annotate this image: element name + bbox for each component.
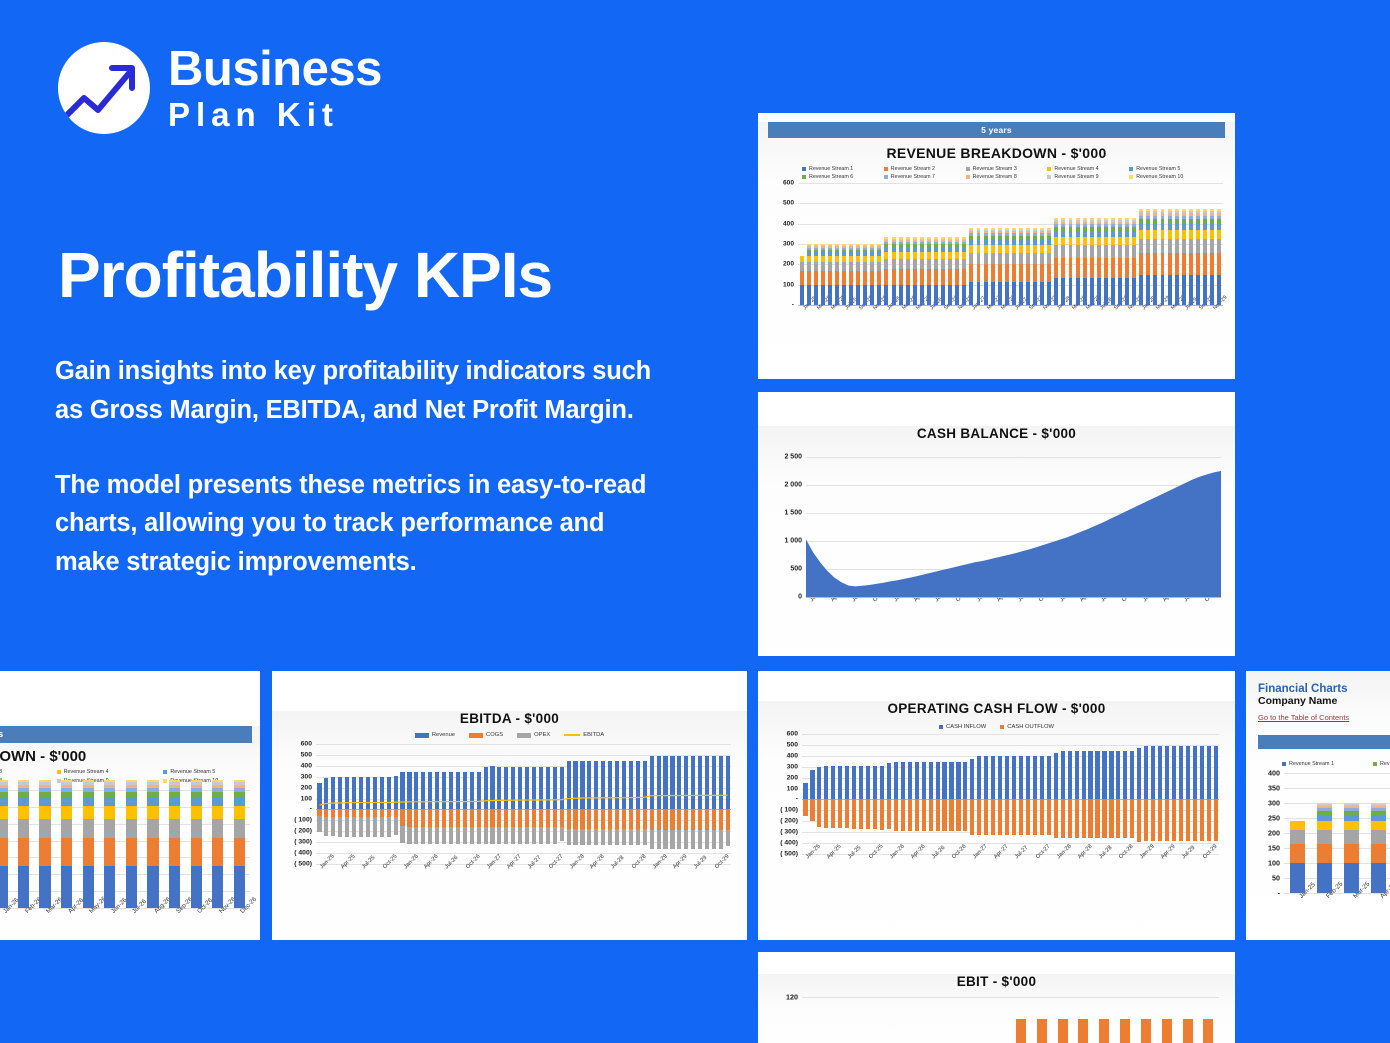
stacked-bar[interactable]	[877, 244, 881, 305]
legend-item[interactable]: Revenue Stream 3	[966, 166, 1048, 172]
bar[interactable]	[991, 756, 995, 799]
bar-slot	[990, 997, 1011, 1043]
bar[interactable]	[831, 766, 835, 799]
bar-segment	[126, 797, 137, 806]
bar[interactable]	[1095, 799, 1099, 838]
bar[interactable]	[894, 762, 898, 800]
stacked-bar[interactable]	[835, 244, 839, 305]
bar[interactable]	[1130, 751, 1134, 800]
bar[interactable]	[1183, 1019, 1193, 1043]
stacked-bar[interactable]	[927, 237, 931, 305]
bar[interactable]	[1047, 756, 1051, 799]
bar[interactable]	[977, 799, 981, 835]
legend-item[interactable]: OPEX	[517, 732, 550, 738]
legend-item[interactable]: Revenue Stream 1	[802, 166, 884, 172]
bar[interactable]	[887, 799, 891, 829]
bar[interactable]	[1214, 746, 1218, 800]
bar[interactable]	[1040, 799, 1044, 835]
bar[interactable]	[1005, 799, 1009, 835]
stacked-bar[interactable]	[984, 228, 988, 305]
bar[interactable]	[1151, 746, 1155, 800]
legend-item[interactable]: Revenue Stream 10	[1129, 174, 1211, 180]
bar-segment	[1146, 223, 1150, 230]
bar[interactable]	[824, 799, 828, 828]
panel-financial-charts[interactable]: Financial Charts Company Name Go to the …	[1246, 671, 1390, 940]
bar[interactable]	[1193, 746, 1197, 800]
bar[interactable]	[936, 799, 940, 831]
bar-slot	[1095, 183, 1102, 305]
bar-segment	[1061, 237, 1065, 246]
bar[interactable]	[1109, 751, 1113, 800]
bar[interactable]	[949, 799, 953, 831]
bar-segment	[1019, 264, 1023, 281]
panel-ebit[interactable]: EBIT - $'000 12010080	[758, 952, 1235, 1043]
stacked-bar[interactable]	[1083, 218, 1087, 305]
bar-segment	[1125, 237, 1129, 246]
bar-segment	[1083, 245, 1087, 258]
bar[interactable]	[1123, 799, 1127, 838]
bar[interactable]	[1165, 746, 1169, 800]
bar[interactable]	[817, 799, 821, 826]
stacked-bar[interactable]	[169, 780, 180, 908]
stacked-bar[interactable]	[212, 780, 223, 908]
legend-item[interactable]: Revenue Stream 1	[1282, 761, 1351, 767]
bar[interactable]	[991, 799, 995, 835]
bar[interactable]	[838, 766, 842, 799]
stacked-bar[interactable]	[0, 780, 8, 908]
bar-segment	[934, 252, 938, 259]
bar[interactable]	[1040, 756, 1044, 799]
y-axis-tick-label: ( 500)	[780, 851, 802, 858]
y-axis-tick-label: 500	[783, 200, 798, 207]
legend-swatch	[966, 175, 970, 179]
bar[interactable]	[942, 799, 946, 831]
bar-segment	[913, 269, 917, 284]
bar[interactable]	[1088, 751, 1092, 800]
bar[interactable]	[1012, 756, 1016, 799]
bar[interactable]	[1162, 1019, 1172, 1043]
bar[interactable]	[1151, 799, 1155, 841]
stacked-bar[interactable]	[39, 780, 50, 908]
bar[interactable]	[956, 799, 960, 831]
bar[interactable]	[1116, 751, 1120, 800]
bar[interactable]	[1037, 1019, 1047, 1043]
bar[interactable]	[824, 766, 828, 799]
panel-cash-balance[interactable]: CASH BALANCE - $'000 2 5002 0001 5001 00…	[758, 392, 1235, 656]
bar[interactable]	[1200, 746, 1204, 800]
stacked-bar[interactable]	[821, 244, 825, 305]
stacked-bar[interactable]	[1217, 209, 1221, 305]
stacked-bar[interactable]	[1196, 209, 1200, 305]
bar-slot	[1129, 734, 1136, 854]
bar[interactable]	[1012, 799, 1016, 835]
stacked-bar[interactable]	[18, 780, 29, 908]
bar[interactable]	[1207, 799, 1211, 841]
stacked-bar[interactable]	[1076, 218, 1080, 305]
bar[interactable]	[1179, 799, 1183, 841]
stacked-bar[interactable]	[1210, 209, 1214, 305]
y-axis-tick-label: ( 200)	[294, 828, 316, 835]
stacked-bar[interactable]	[1097, 218, 1101, 305]
line-series	[316, 744, 731, 864]
bar-segment	[1005, 253, 1009, 265]
bar[interactable]	[949, 762, 953, 800]
stacked-bar[interactable]	[1371, 803, 1386, 893]
stacked-bar[interactable]	[1005, 228, 1009, 305]
bar[interactable]	[998, 756, 1002, 799]
bar-slot	[837, 734, 844, 854]
stacked-bar[interactable]	[1182, 209, 1186, 305]
bar[interactable]	[984, 799, 988, 835]
legend-label: Revenue Stream 7	[891, 174, 935, 180]
stacked-bar[interactable]	[991, 228, 995, 305]
bar[interactable]	[866, 799, 870, 828]
bar[interactable]	[936, 762, 940, 800]
bar-segment	[39, 819, 50, 838]
x-axis-labels: Jan-25Mar-25May-25Jul-25Sep-25Nov-25Jan-…	[798, 305, 1223, 349]
ribbon-5-years[interactable]: 5 years	[768, 122, 1225, 138]
bar-segment	[104, 806, 115, 819]
bar[interactable]	[956, 762, 960, 800]
stacked-bar[interactable]	[906, 237, 910, 305]
bar[interactable]	[838, 799, 842, 828]
bar[interactable]	[1172, 746, 1176, 800]
stacked-bar[interactable]	[61, 780, 72, 908]
bar-segment	[934, 259, 938, 270]
bar-slot	[1187, 183, 1194, 305]
bar[interactable]	[831, 799, 835, 828]
stacked-bar[interactable]	[962, 237, 966, 305]
legend-item[interactable]: Revenue Stream 8	[966, 174, 1048, 180]
bar-slot	[13, 790, 35, 908]
bar[interactable]	[1207, 746, 1211, 800]
stacked-bar[interactable]	[147, 780, 158, 908]
bar[interactable]	[1165, 799, 1169, 841]
bar[interactable]	[1099, 1019, 1109, 1043]
stacked-bar[interactable]	[948, 237, 952, 305]
stacked-bar[interactable]	[1040, 228, 1044, 305]
bar-segment	[1069, 245, 1073, 258]
stacked-bar[interactable]	[1111, 218, 1115, 305]
bar-segment	[234, 797, 245, 806]
legend-item[interactable]: Revenue Stream 3	[0, 769, 39, 775]
stacked-bar[interactable]	[800, 256, 804, 305]
stacked-bar[interactable]	[1026, 228, 1030, 305]
legend-item[interactable]: Revenue Stream 6	[1373, 761, 1390, 767]
ribbon-placeholder[interactable]	[1258, 735, 1390, 749]
plot-ebitda: 600500400300200100-( 100)( 200)( 300)( 4…	[316, 744, 731, 864]
bar-segment	[1076, 258, 1080, 277]
bar[interactable]	[873, 766, 877, 799]
legend-item[interactable]: Revenue Stream 4	[57, 769, 146, 775]
bar[interactable]	[1120, 1019, 1130, 1043]
stacked-bar[interactable]	[1012, 228, 1016, 305]
y-axis-tick-label: ( 100)	[294, 817, 316, 824]
stacked-bar[interactable]	[1069, 218, 1073, 305]
bar[interactable]	[852, 799, 856, 828]
stacked-bar[interactable]	[807, 244, 811, 305]
bar[interactable]	[1130, 799, 1134, 838]
bar-segment	[991, 253, 995, 265]
bar[interactable]	[922, 799, 926, 831]
stacked-bar[interactable]	[842, 244, 846, 305]
bar[interactable]	[1033, 756, 1037, 799]
bar[interactable]	[1016, 1019, 1026, 1043]
bar[interactable]	[1172, 799, 1176, 841]
legend-item[interactable]: Revenue Stream 5	[163, 769, 252, 775]
bar[interactable]	[1061, 799, 1065, 837]
legend-item[interactable]: Revenue Stream 2	[884, 166, 966, 172]
bar[interactable]	[1078, 1019, 1088, 1043]
bar-segment	[1196, 253, 1200, 274]
bar[interactable]	[1144, 799, 1148, 841]
bar[interactable]	[1137, 748, 1141, 800]
legend-item[interactable]: Revenue Stream 4	[1047, 166, 1129, 172]
legend-item[interactable]: Revenue	[415, 732, 455, 738]
stacked-bar[interactable]	[1175, 209, 1179, 305]
stacked-bar[interactable]	[913, 237, 917, 305]
stacked-bar[interactable]	[884, 237, 888, 305]
stacked-bar[interactable]	[934, 237, 938, 305]
stacked-bar[interactable]	[1047, 228, 1051, 305]
bar[interactable]	[852, 766, 856, 799]
bar-segment	[1182, 223, 1186, 230]
bar[interactable]	[1214, 799, 1218, 841]
stacked-bar[interactable]	[955, 237, 959, 305]
bar-segment	[977, 253, 981, 265]
bar[interactable]	[1179, 746, 1183, 800]
bar[interactable]	[942, 762, 946, 800]
bar[interactable]	[1203, 1019, 1213, 1043]
bar[interactable]	[1095, 751, 1099, 800]
bar[interactable]	[1075, 751, 1079, 800]
stacked-bar[interactable]	[863, 244, 867, 305]
legend-swatch	[884, 167, 888, 171]
bar[interactable]	[963, 762, 967, 800]
bar[interactable]	[1082, 799, 1086, 838]
bar-slot	[897, 183, 904, 305]
bar[interactable]	[1005, 756, 1009, 799]
panel-revenue-breakdown-5-years[interactable]: 5 years REVENUE BREAKDOWN - $'000 Revenu…	[758, 113, 1235, 379]
bar[interactable]	[977, 756, 981, 799]
bar-segment	[1083, 237, 1087, 246]
bar[interactable]	[859, 766, 863, 799]
bar[interactable]	[1061, 751, 1065, 799]
stacked-bar[interactable]	[870, 244, 874, 305]
y-axis-tick-label: 1 500	[784, 510, 806, 517]
bar[interactable]	[970, 799, 974, 834]
bar[interactable]	[922, 762, 926, 800]
bar-segment	[955, 252, 959, 259]
bar[interactable]	[1123, 751, 1127, 800]
stacked-bar[interactable]	[1104, 218, 1108, 305]
bar[interactable]	[817, 767, 821, 799]
bar[interactable]	[1082, 751, 1086, 800]
stacked-bar[interactable]	[1153, 209, 1157, 305]
stacked-bar[interactable]	[892, 237, 896, 305]
bar[interactable]	[984, 756, 988, 799]
bar[interactable]	[1054, 799, 1058, 837]
bar[interactable]	[970, 759, 974, 800]
bar[interactable]	[1186, 799, 1190, 841]
bar[interactable]	[1054, 753, 1058, 799]
stacked-bar[interactable]	[828, 244, 832, 305]
bar[interactable]	[873, 799, 877, 828]
legend-item[interactable]: Revenue Stream 7	[884, 174, 966, 180]
bar-segment	[948, 252, 952, 259]
stacked-bar[interactable]	[104, 780, 115, 908]
legend-item[interactable]: Revenue Stream 9	[1047, 174, 1129, 180]
bar-slot	[1166, 183, 1173, 305]
stacked-bar[interactable]	[1061, 218, 1065, 305]
bar[interactable]	[803, 799, 807, 816]
bar[interactable]	[887, 763, 891, 799]
stacked-bar[interactable]	[191, 780, 202, 908]
stacked-bar[interactable]	[1161, 209, 1165, 305]
stacked-bar[interactable]	[941, 237, 945, 305]
legend-item[interactable]: EBITDA	[564, 732, 604, 738]
bar-slot	[934, 734, 941, 854]
stacked-bar[interactable]	[899, 237, 903, 305]
bar[interactable]	[866, 766, 870, 799]
bar[interactable]	[880, 799, 884, 829]
bar-slot	[865, 997, 886, 1043]
bar[interactable]	[963, 799, 967, 831]
bar[interactable]	[929, 762, 933, 800]
stacked-bar[interactable]	[849, 244, 853, 305]
bar[interactable]	[1102, 799, 1106, 838]
legend-item[interactable]: Revenue Stream 5	[1129, 166, 1211, 172]
bar[interactable]	[901, 762, 905, 800]
stacked-bar[interactable]	[83, 780, 94, 908]
bar[interactable]	[908, 762, 912, 800]
bar-segment	[1168, 230, 1172, 239]
bar[interactable]	[1144, 746, 1148, 800]
panel-operating-cash-flow[interactable]: OPERATING CASH FLOW - $'000 CASH INFLOWC…	[758, 671, 1235, 940]
table-of-contents-link[interactable]: Go to the Table of Contents	[1258, 713, 1349, 722]
bar[interactable]	[845, 766, 849, 799]
stacked-bar[interactable]	[977, 228, 981, 305]
stacked-bar[interactable]	[1203, 209, 1207, 305]
bar[interactable]	[908, 799, 912, 831]
bar-segment	[61, 838, 72, 866]
stacked-bar[interactable]	[1344, 803, 1359, 893]
bar-segment	[212, 866, 223, 908]
bar[interactable]	[1137, 799, 1141, 841]
bar-segment	[83, 819, 94, 838]
stacked-bar[interactable]	[1125, 218, 1129, 305]
bar[interactable]	[880, 766, 884, 800]
bar-segment	[0, 797, 8, 806]
bar-segment	[1047, 282, 1051, 305]
stacked-bar[interactable]	[234, 780, 245, 908]
legend-item[interactable]: CASH OUTFLOW	[1000, 724, 1054, 730]
bar-segment	[191, 806, 202, 819]
bar[interactable]	[845, 799, 849, 828]
stacked-bar[interactable]	[1168, 209, 1172, 305]
bar[interactable]	[929, 799, 933, 831]
stacked-bar[interactable]	[1317, 803, 1332, 893]
y-axis-tick-label: ( 400)	[780, 840, 802, 847]
bar[interactable]	[1033, 799, 1037, 835]
bar[interactable]	[1075, 799, 1079, 838]
stacked-bar[interactable]	[856, 244, 860, 305]
legend-item[interactable]: CASH INFLOW	[939, 724, 986, 730]
bar[interactable]	[1200, 799, 1204, 841]
panel-ebitda[interactable]: EBITDA - $'000 RevenueCOGSOPEXEBITDA 600…	[272, 671, 747, 940]
bar-segment	[1026, 245, 1030, 253]
stacked-bar[interactable]	[998, 228, 1002, 305]
stacked-bar[interactable]	[1054, 218, 1058, 305]
bar[interactable]	[901, 799, 905, 831]
bar-slot	[869, 183, 876, 305]
legend-item[interactable]: Revenue Stream 6	[802, 174, 884, 180]
bar[interactable]	[1068, 799, 1072, 838]
stacked-bar[interactable]	[969, 228, 973, 305]
stacked-bar[interactable]	[1118, 218, 1122, 305]
bar[interactable]	[1141, 1019, 1151, 1043]
stacked-bar[interactable]	[1139, 209, 1143, 305]
bar[interactable]	[1088, 799, 1092, 838]
bar-segment	[1146, 230, 1150, 239]
bar[interactable]	[803, 783, 807, 799]
bar-segment	[147, 797, 158, 806]
bar[interactable]	[998, 799, 1002, 835]
bar[interactable]	[1116, 799, 1120, 838]
bar-segment	[1097, 245, 1101, 258]
bar-slot	[885, 734, 892, 854]
stacked-bar[interactable]	[1132, 218, 1136, 305]
bar[interactable]	[1158, 799, 1162, 841]
bar[interactable]	[1186, 746, 1190, 800]
bar[interactable]	[1102, 751, 1106, 800]
bar[interactable]	[894, 799, 898, 830]
bar[interactable]	[1047, 799, 1051, 835]
stacked-bar[interactable]	[1290, 821, 1305, 893]
stacked-bar[interactable]	[1019, 228, 1023, 305]
stacked-bar[interactable]	[1146, 209, 1150, 305]
bar[interactable]	[915, 762, 919, 800]
stacked-bar[interactable]	[920, 237, 924, 305]
bar-segment	[1033, 253, 1037, 265]
bar[interactable]	[1026, 756, 1030, 799]
legend-swatch	[1282, 762, 1286, 766]
stacked-bar[interactable]	[1189, 209, 1193, 305]
bar[interactable]	[1158, 746, 1162, 800]
bar[interactable]	[1109, 799, 1113, 838]
legend-item[interactable]: COGS	[469, 732, 503, 738]
bar[interactable]	[1058, 1019, 1068, 1043]
stacked-bar[interactable]	[126, 780, 137, 908]
bar[interactable]	[915, 799, 919, 831]
bar[interactable]	[1019, 756, 1023, 799]
bar[interactable]	[1193, 799, 1197, 841]
stacked-bar[interactable]	[1033, 228, 1037, 305]
ribbon-24-months[interactable]: 24 months	[0, 726, 252, 743]
bar[interactable]	[810, 770, 814, 799]
panel-revenue-breakdown-24-months[interactable]: 24 months REAKDOWN - $'000 Revenue Strea…	[0, 671, 260, 940]
bar[interactable]	[1026, 799, 1030, 835]
bar[interactable]	[1068, 751, 1072, 800]
bar-segment	[1153, 230, 1157, 239]
bar-segment	[1161, 223, 1165, 230]
bar-segment	[1005, 264, 1009, 281]
stacked-bar[interactable]	[814, 244, 818, 305]
bar[interactable]	[1019, 799, 1023, 835]
bar[interactable]	[810, 799, 814, 821]
stacked-bar[interactable]	[1090, 218, 1094, 305]
bar[interactable]	[859, 799, 863, 828]
